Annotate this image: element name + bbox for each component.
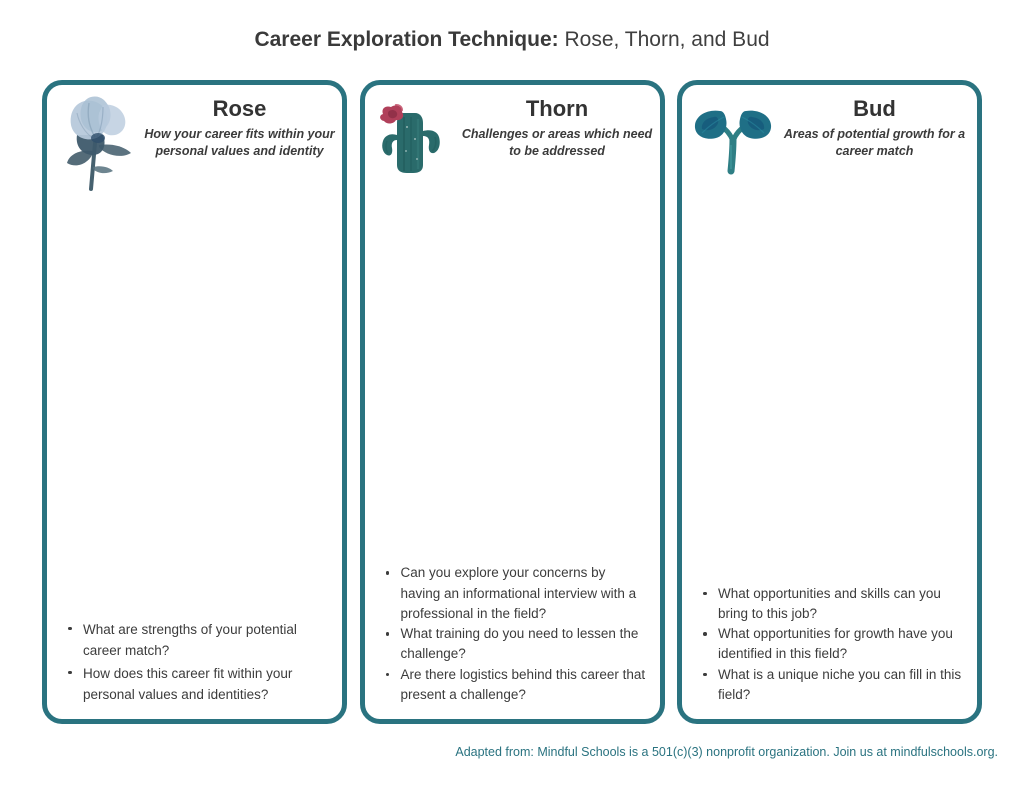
list-item: What training do you need to lessen the … (383, 624, 648, 665)
card-thorn-header: Thorn Challenges or areas which need to … (365, 85, 660, 200)
card-rose: Rose How your career fits within your pe… (42, 80, 347, 724)
page-title-strong: Career Exploration Technique: (254, 28, 558, 51)
card-thorn-subtitle: Challenges or areas which need to be add… (461, 126, 654, 161)
list-item-text: What training do you need to lessen the … (401, 626, 639, 661)
list-item-text: Are there logistics behind this career t… (401, 667, 646, 702)
card-rose-subtitle: How your career fits within your persona… (143, 126, 336, 161)
card-rose-body: What are strengths of your potential car… (47, 200, 342, 719)
cactus-icon (373, 91, 459, 191)
card-bud-header-text: Bud Areas of potential growth for a care… (778, 97, 971, 161)
bullet-dot-icon (68, 671, 72, 675)
list-item: Can you explore your concerns by having … (383, 563, 648, 624)
bullet-dot-icon (703, 592, 707, 596)
card-bud-subtitle: Areas of potential growth for a career m… (778, 126, 971, 161)
card-row: Rose How your career fits within your pe… (42, 80, 982, 724)
card-thorn-title: Thorn (461, 97, 654, 121)
list-item: What are strengths of your potential car… (65, 619, 330, 661)
bullet-dot-icon (703, 632, 707, 636)
footer-attribution: Adapted from: Mindful Schools is a 501(c… (455, 745, 998, 759)
sprout-icon (690, 91, 776, 191)
card-rose-bullets: What are strengths of your potential car… (65, 619, 330, 705)
card-bud: Bud Areas of potential growth for a care… (677, 80, 982, 724)
card-bud-body: What opportunities and skills can you br… (682, 200, 977, 719)
list-item: What opportunities and skills can you br… (700, 584, 965, 625)
list-item-text: What are strengths of your potential car… (83, 622, 297, 658)
rose-flower-icon (55, 91, 141, 191)
card-rose-header-text: Rose How your career fits within your pe… (143, 97, 336, 161)
list-item-text: What is a unique niche you can fill in t… (718, 667, 961, 702)
list-item-text: How does this career fit within your per… (83, 666, 292, 702)
card-rose-title: Rose (143, 97, 336, 121)
list-item: How does this career fit within your per… (65, 663, 330, 705)
bullet-dot-icon (386, 673, 390, 677)
list-item: Are there logistics behind this career t… (383, 665, 648, 706)
bullet-dot-icon (386, 571, 390, 575)
bullet-dot-icon (386, 632, 390, 636)
bullet-dot-icon (68, 627, 72, 631)
list-item-text: What opportunities and skills can you br… (718, 586, 941, 621)
list-item-text: What opportunities for growth have you i… (718, 626, 953, 661)
card-thorn-bullets: Can you explore your concerns by having … (383, 563, 648, 705)
card-bud-title: Bud (778, 97, 971, 121)
card-bud-header: Bud Areas of potential growth for a care… (682, 85, 977, 200)
card-thorn-body: Can you explore your concerns by having … (365, 200, 660, 719)
page-title: Career Exploration Technique: Rose, Thor… (0, 28, 1024, 52)
bullet-dot-icon (703, 673, 707, 677)
list-item: What is a unique niche you can fill in t… (700, 665, 965, 706)
card-thorn: Thorn Challenges or areas which need to … (360, 80, 665, 724)
card-rose-header: Rose How your career fits within your pe… (47, 85, 342, 200)
card-thorn-header-text: Thorn Challenges or areas which need to … (461, 97, 654, 161)
page-title-rest: Rose, Thorn, and Bud (564, 28, 769, 51)
card-bud-bullets: What opportunities and skills can you br… (700, 584, 965, 706)
list-item-text: Can you explore your concerns by having … (401, 565, 637, 621)
list-item: What opportunities for growth have you i… (700, 624, 965, 665)
